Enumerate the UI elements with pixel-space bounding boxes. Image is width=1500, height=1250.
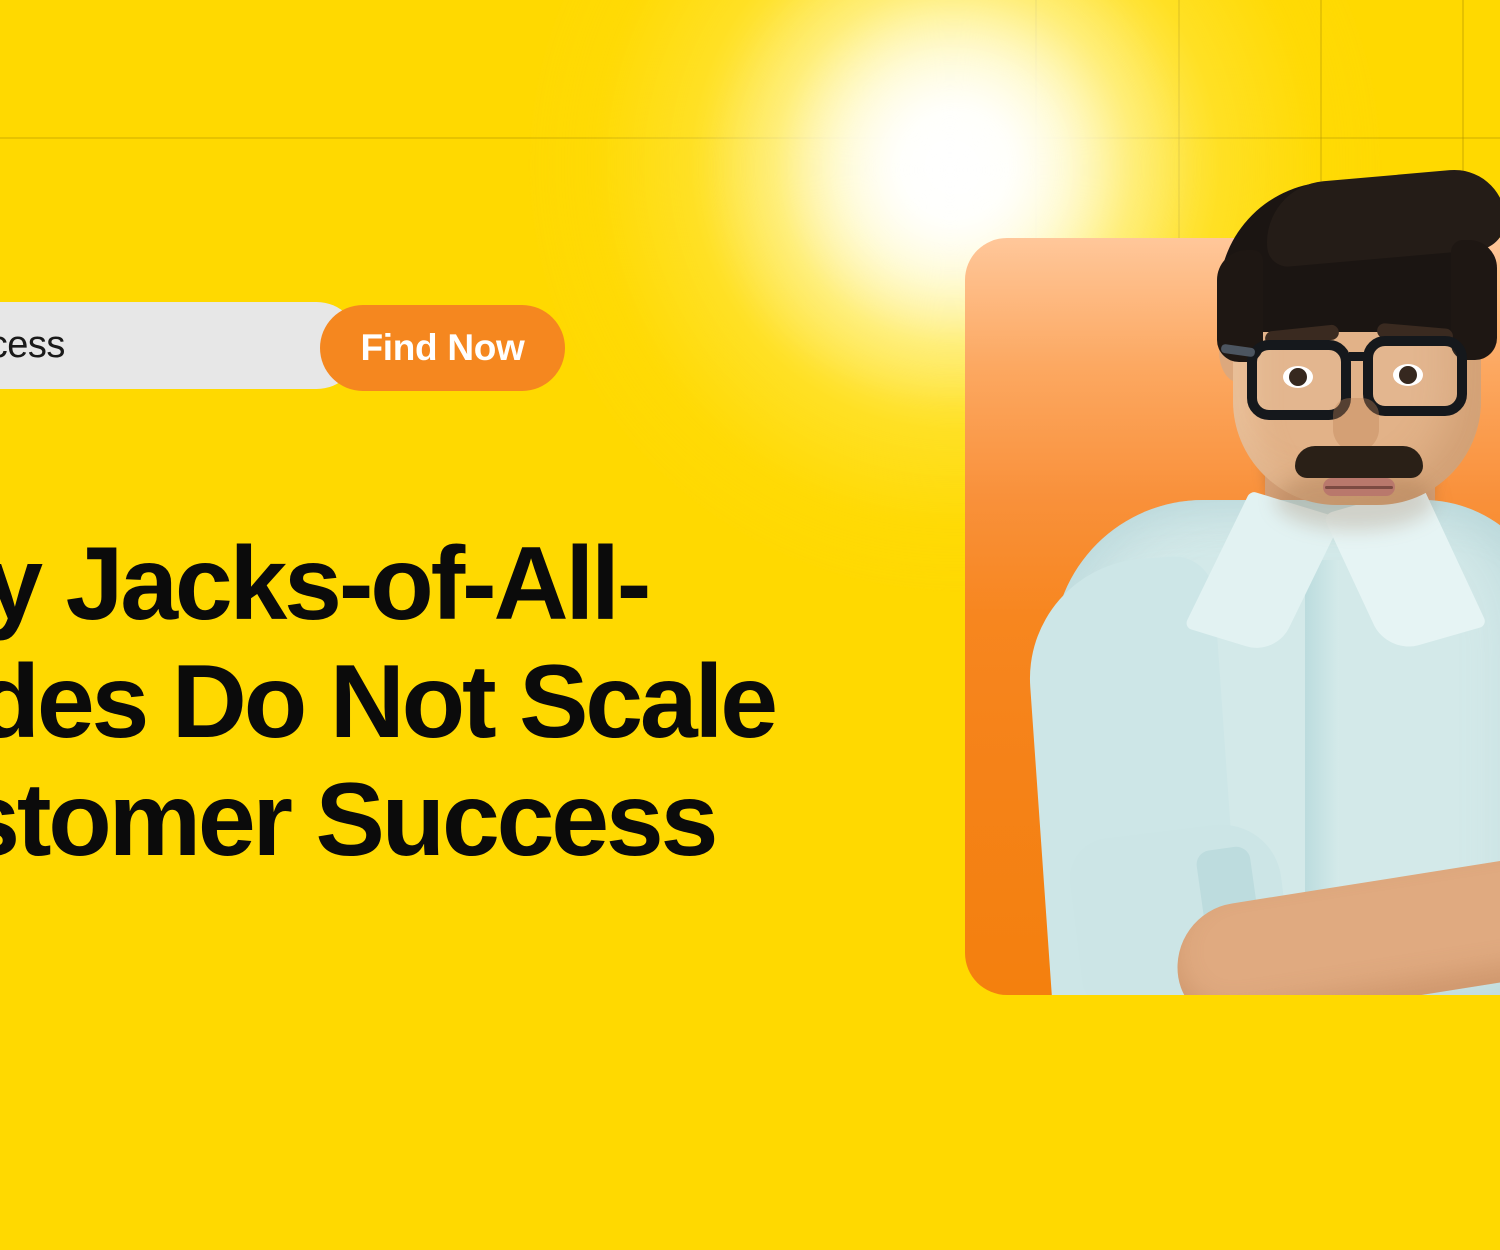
- mustache: [1295, 446, 1423, 478]
- hero-banner: Find Now Why Jacks-of-All- Trades Do Not…: [0, 0, 1500, 1250]
- headline-line-1: Why Jacks-of-All-: [0, 525, 950, 643]
- find-now-button[interactable]: Find Now: [320, 305, 565, 391]
- shirt-placket: [1305, 560, 1339, 940]
- search-input[interactable]: [0, 324, 360, 367]
- headline-line-2: Trades Do Not Scale: [0, 643, 950, 761]
- portrait-photo: [965, 0, 1500, 995]
- glasses-bridge: [1349, 352, 1367, 361]
- portrait-figure: [965, 0, 1500, 995]
- mouth-line: [1325, 486, 1393, 489]
- page-title: Why Jacks-of-All- Trades Do Not Scale Cu…: [0, 525, 950, 879]
- headline-line-3: Customer Success: [0, 761, 950, 879]
- glasses-lens-right: [1363, 336, 1467, 416]
- nose: [1333, 398, 1379, 452]
- search-bar[interactable]: [0, 302, 360, 389]
